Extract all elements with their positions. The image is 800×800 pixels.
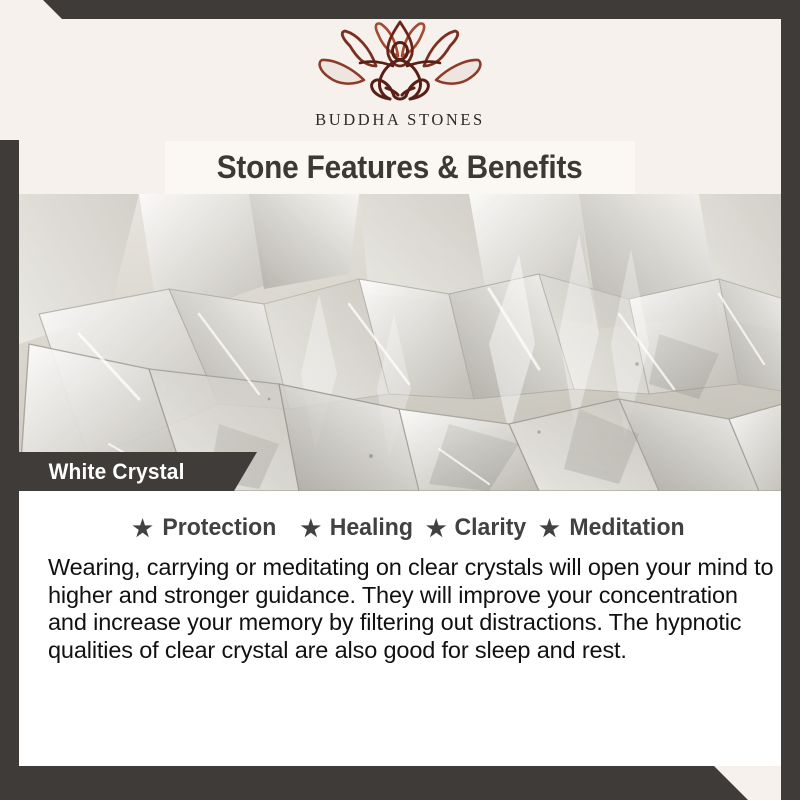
frame-bottom-band [0,766,800,800]
benefit-label: Healing [330,514,413,542]
description-paragraph: Wearing, carrying or meditating on clear… [48,554,774,665]
benefit-label: Protection [162,514,276,542]
benefit-label: Meditation [569,514,684,542]
title-banner: Stone Features & Benefits [165,141,635,194]
infographic-page: White Crystal ★ Protection ★ Healing ★ C… [0,0,800,800]
brand-name: BUDDHA STONES [315,110,485,130]
page-title: Stone Features & Benefits [217,149,583,186]
status-badge: White Crystal [19,452,257,491]
content-panel: ★ Protection ★ Healing ★ Clarity ★ Medit… [19,491,800,766]
benefit-item-healing: ★ Healing [279,514,415,542]
benefit-item-meditation: ★ Meditation [528,514,687,542]
description-text: Wearing, carrying or meditating on clear… [48,554,774,665]
lotus-meditation-icon [312,18,488,106]
brand-logo: BUDDHA STONES [0,18,800,130]
frame-right-band [781,0,800,800]
star-icon: ★ [301,517,322,540]
benefit-item-protection: ★ Protection [132,514,278,542]
white-crystal-cluster-photo [19,194,800,491]
star-icon: ★ [539,517,560,540]
benefit-label: Clarity [455,514,527,542]
badge-label: White Crystal [49,459,185,485]
benefits-list: ★ Protection ★ Healing ★ Clarity ★ Medit… [33,514,786,542]
star-icon: ★ [132,517,153,540]
benefit-item-clarity: ★ Clarity [415,514,528,542]
crystal-illustration [19,194,800,491]
frame-top-band [0,0,800,19]
frame-left-band [0,140,19,800]
star-icon: ★ [426,517,447,540]
